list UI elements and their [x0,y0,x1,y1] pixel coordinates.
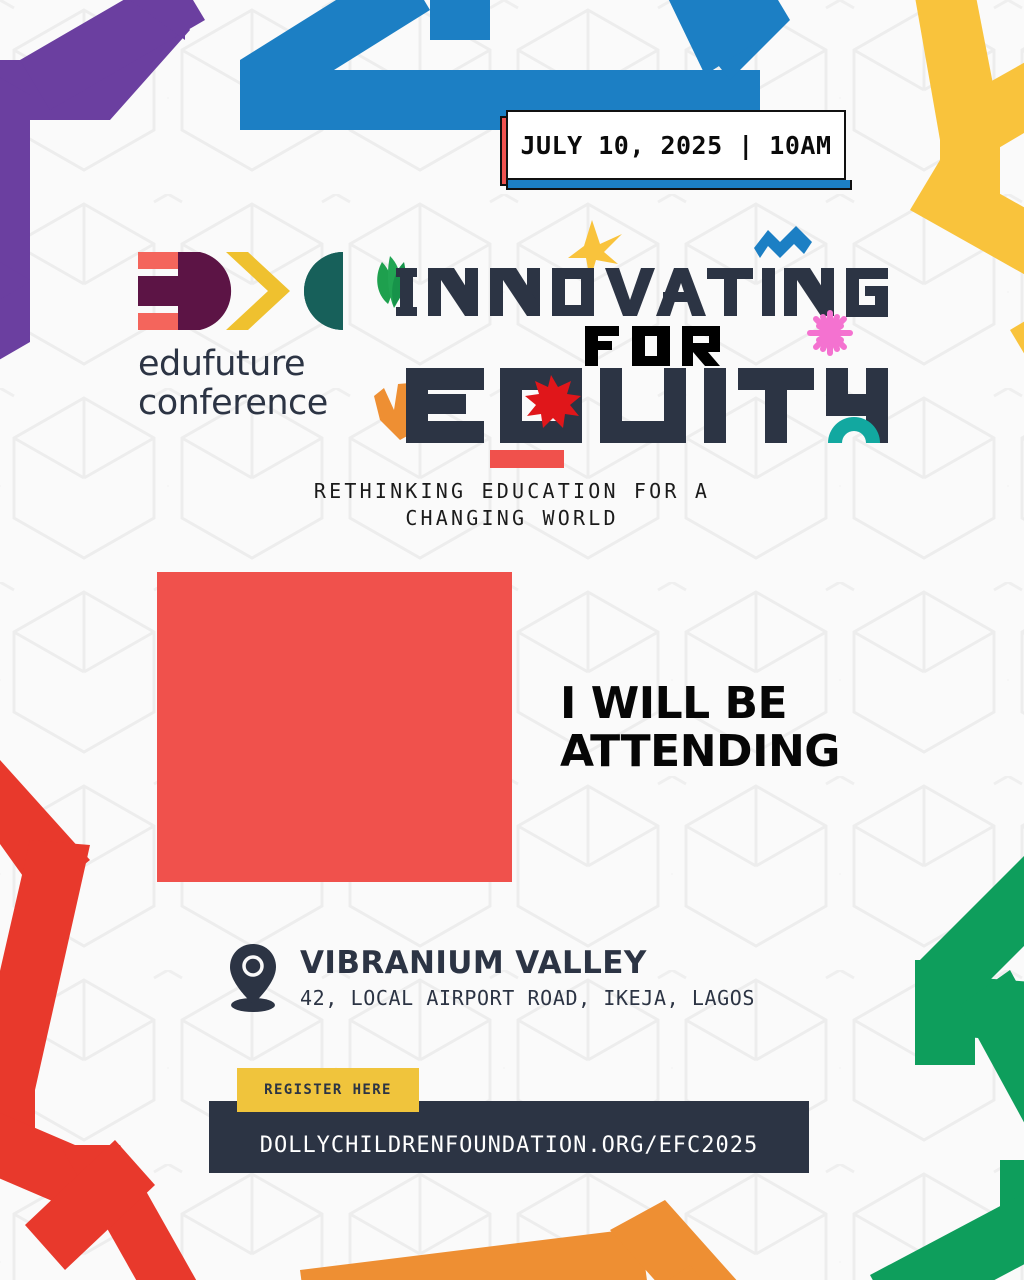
event-subtitle: RETHINKING EDUCATION FOR A CHANGING WORL… [0,478,1024,531]
subtitle-line2: CHANGING WORLD [0,505,1024,532]
register-url: DOLLYCHILDRENFOUNDATION.ORG/EFC2025 [260,1117,759,1158]
subtitle-line1: RETHINKING EDUCATION FOR A [0,478,1024,505]
venue-name: VIBRANIUM VALLEY [300,946,755,980]
date-banner-box: JULY 10, 2025 | 10AM [506,110,846,180]
logo-word-line1: edufuture [138,345,348,384]
map-pin-icon [228,942,278,1012]
venue-address: 42, LOCAL AIRPORT ROAD, IKEJA, LAGOS [300,986,755,1010]
logo-word-line2: conference [138,384,348,423]
attending-headline: I WILL BE ATTENDING [560,680,890,775]
event-date-time: JULY 10, 2025 | 10AM [520,131,831,160]
register-tab-label: REGISTER HERE [264,1082,392,1098]
date-banner: JULY 10, 2025 | 10AM [506,110,846,180]
attending-line1: I WILL BE [560,680,890,728]
title-line-for [585,326,720,366]
register-block: REGISTER HERE DOLLYCHILDRENFOUNDATION.OR… [209,1068,809,1173]
title-line-innovating [396,268,888,317]
logo-wordmark: edufuture conference [138,345,348,423]
title-line-equity [406,368,888,443]
register-here-tab[interactable]: REGISTER HERE [237,1068,419,1112]
edufuture-logo: edufuture conference [138,250,348,423]
pink-asterisk-icon [810,313,850,353]
event-title-block [360,218,890,468]
venue-block: VIBRANIUM VALLEY 42, LOCAL AIRPORT ROAD,… [228,942,755,1012]
date-banner-bottom-accent [506,180,852,190]
edufuture-logo-mark [138,250,343,335]
attending-line2: ATTENDING [560,728,890,776]
red-underline-bar [490,450,564,468]
photo-placeholder [157,572,512,882]
blue-zigzag-icon [754,226,812,258]
